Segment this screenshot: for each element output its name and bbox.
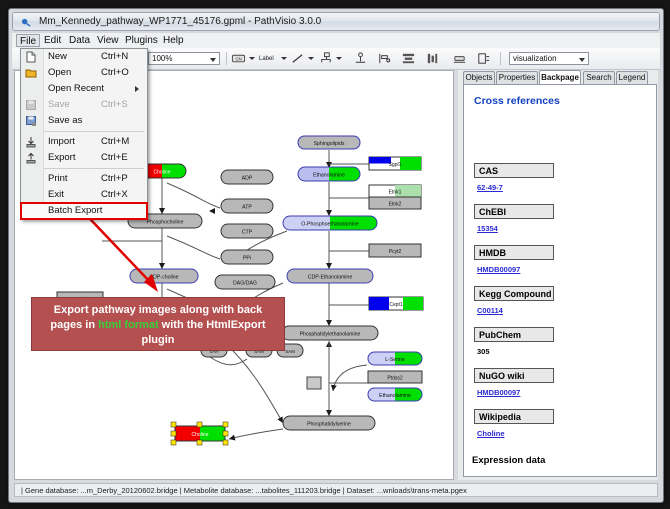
svg-text:GN: GN	[235, 56, 241, 61]
menu-item-import-accel: Ctrl+M	[101, 134, 129, 150]
node-sgpl1: Sgpl1	[369, 157, 421, 170]
side-panel-tabstrip: Objects Properties Backpage Search Legen…	[463, 70, 658, 84]
line-icon[interactable]	[290, 51, 305, 66]
screenshot-root: Mm_Kennedy_pathway_WP1771_45176.gpml - P…	[0, 0, 670, 509]
menu-item-exit[interactable]: Exit Ctrl+X	[21, 187, 147, 203]
node-ethanolamine-top: Ethanolamine	[298, 167, 360, 181]
zoom-value: 100%	[152, 54, 172, 63]
menu-help[interactable]: Help	[159, 34, 188, 47]
pathvisio-app-icon	[21, 17, 32, 28]
menu-item-new-accel: Ctrl+N	[101, 49, 128, 65]
node-adp: ADP	[221, 170, 273, 184]
svg-text:Etnk2: Etnk2	[389, 202, 402, 208]
toolbar-separator-2	[500, 52, 501, 65]
annotation-line2b: with the	[159, 319, 204, 331]
svg-text:Pcyt2: Pcyt2	[389, 249, 402, 255]
datanode-icon[interactable]: GN	[231, 51, 246, 66]
menu-data[interactable]: Data	[65, 34, 94, 47]
svg-text:Ethanolamine: Ethanolamine	[313, 173, 345, 179]
annotation-text: Export pathway images along with back pa…	[38, 303, 278, 348]
node-etnk2: Etnk2	[369, 197, 421, 209]
menu-file[interactable]: File	[16, 34, 40, 47]
svg-text:SAM: SAM	[285, 349, 295, 354]
svg-text:Ethanolamine: Ethanolamine	[379, 393, 411, 399]
window-title: Mm_Kennedy_pathway_WP1771_45176.gpml - P…	[39, 16, 321, 27]
node-pcyt2: Pcyt2	[369, 244, 421, 257]
svg-text:Sgpl1: Sgpl1	[389, 162, 402, 168]
svg-text:Cept1: Cept1	[389, 302, 403, 308]
open-folder-icon	[25, 67, 37, 79]
menu-item-export-accel: Ctrl+E	[101, 150, 128, 166]
svg-text:Ptdss2: Ptdss2	[387, 376, 403, 382]
svg-text:Phosphatidylserine: Phosphatidylserine	[307, 422, 351, 428]
menu-item-open-recent-label: Open Recent	[48, 81, 104, 97]
menu-item-open-label: Open	[48, 65, 71, 81]
group-icon[interactable]	[476, 51, 491, 66]
menu-item-open-accel: Ctrl+O	[101, 65, 129, 81]
svg-text:DAG/DAG: DAG/DAG	[233, 281, 257, 287]
xref-label-hmdb: HMDB	[474, 245, 554, 260]
visualization-value: visualization	[513, 54, 557, 63]
node-phosphatidylserine: Phosphatidylserine	[283, 416, 375, 430]
menu-item-import[interactable]: Import Ctrl+M	[21, 134, 147, 150]
save-as-icon	[25, 115, 37, 127]
xref-label-cas: CAS	[474, 163, 554, 178]
distribute-horizontal-icon[interactable]	[425, 51, 440, 66]
menu-item-exit-accel: Ctrl+X	[101, 187, 128, 203]
side-panel: Objects Properties Backpage Search Legen…	[458, 70, 658, 480]
annotation-callout: Export pathway images along with back pa…	[31, 297, 285, 351]
svg-text:L-Serine: L-Serine	[385, 357, 405, 363]
menu-item-open-recent[interactable]: Open Recent	[21, 81, 147, 97]
tab-objects[interactable]: Objects	[463, 71, 495, 84]
chevron-down-icon-2	[579, 58, 585, 62]
menu-bar: File Edit Data View Plugins Help	[12, 33, 660, 49]
svg-text:Phosphocholine: Phosphocholine	[147, 220, 184, 226]
backpage-panel[interactable]: Cross references CAS 62-49-7 ChEBI 15354…	[463, 84, 657, 477]
xref-label-kegg: Kegg Compound	[474, 286, 554, 301]
menu-item-save-as[interactable]: Save as	[21, 113, 147, 129]
annotation-line2a: pages in	[50, 319, 98, 331]
svg-text:ADP: ADP	[242, 176, 253, 182]
node-ctp: CTP	[221, 224, 273, 238]
menu-item-export[interactable]: Export Ctrl+E	[21, 150, 147, 166]
file-menu-dropdown[interactable]: New Ctrl+N Open Ctrl+O Open Recent Save …	[20, 48, 148, 220]
new-document-icon	[25, 51, 37, 63]
chevron-down-icon	[210, 58, 216, 62]
menu-item-new[interactable]: New Ctrl+N	[21, 49, 147, 65]
tab-legend[interactable]: Legend	[616, 71, 648, 84]
svg-text:O-Phosphoethanolamine: O-Phosphoethanolamine	[301, 222, 359, 228]
menu-item-batch-export-label: Batch Export	[48, 203, 102, 219]
stack-center-icon[interactable]	[452, 51, 467, 66]
menu-item-print-accel: Ctrl+P	[101, 171, 128, 187]
align-top-icon[interactable]	[353, 51, 368, 66]
application-window: Mm_Kennedy_pathway_WP1771_45176.gpml - P…	[8, 8, 664, 503]
menu-edit[interactable]: Edit	[40, 34, 65, 47]
xref-label-nugo: NuGO wiki	[474, 368, 554, 383]
annotation-highlight: html format	[98, 319, 159, 331]
submenu-arrow-icon	[135, 86, 139, 92]
status-bar: | Gene database: ...m_Derby_20120602.bri…	[14, 483, 658, 497]
menu-view[interactable]: View	[93, 34, 123, 47]
node-phosphatidylethanolamine: Phosphatidylethanolamine	[282, 326, 378, 340]
menu-item-exit-label: Exit	[48, 187, 64, 203]
node-cept1: Cept1	[369, 297, 423, 310]
node-choline-selected: Choline	[171, 422, 228, 445]
distribute-vertical-icon[interactable]	[401, 51, 416, 66]
xref-value-nugo[interactable]: HMDB00097	[477, 388, 520, 397]
xref-label-chebi: ChEBI	[474, 204, 554, 219]
tab-backpage[interactable]: Backpage	[539, 70, 581, 84]
backpage-title: Cross references	[474, 95, 560, 107]
menu-item-save-accel: Ctrl+S	[101, 97, 128, 113]
svg-text:PPi: PPi	[243, 256, 251, 262]
expression-data-heading: Expression data	[472, 455, 545, 466]
node-etnk1: Etnk1	[369, 185, 421, 197]
node-ppi: PPi	[221, 250, 273, 264]
xref-value-kegg[interactable]: C00114	[477, 306, 503, 315]
svg-text:Choline: Choline	[154, 170, 171, 176]
node-ethanolamine-bottom: Ethanolamine	[368, 388, 422, 401]
title-bar: Mm_Kennedy_pathway_WP1771_45176.gpml - P…	[12, 12, 660, 31]
node-sphingolipids: Sphingolipids	[298, 136, 360, 149]
svg-text:CDP-choline: CDP-choline	[149, 275, 178, 281]
xref-label-pubchem: PubChem	[474, 327, 554, 342]
menu-item-export-label: Export	[48, 150, 75, 166]
node-l-serine: L-Serine	[368, 352, 422, 365]
menu-item-save-as-label: Save as	[48, 113, 82, 129]
datanode-dropdown-arrow-icon[interactable]	[249, 57, 255, 60]
node-cdp-ethanolamine: CDP-Ethanolamine	[287, 269, 373, 283]
svg-text:ATP: ATP	[242, 205, 252, 211]
visualization-dropdown[interactable]: visualization	[509, 52, 589, 65]
menu-item-new-label: New	[48, 49, 67, 65]
svg-text:CDP-Ethanolamine: CDP-Ethanolamine	[308, 275, 353, 281]
status-text: | Gene database: ...m_Derby_20120602.bri…	[21, 486, 467, 495]
toolbar-separator	[226, 52, 227, 65]
menu-item-save: Save Ctrl+S	[21, 97, 147, 113]
zoom-dropdown[interactable]: 100%	[148, 52, 220, 65]
export-icon	[25, 152, 37, 164]
node-o-phosphoethanolamine: O-Phosphoethanolamine	[283, 216, 377, 230]
xref-value-wikipedia[interactable]: Choline	[477, 429, 505, 438]
svg-text:Sphingolipids: Sphingolipids	[314, 141, 345, 147]
menu-item-import-label: Import	[48, 134, 75, 150]
xref-value-chebi[interactable]: 15354	[477, 224, 498, 233]
interaction-icon[interactable]	[318, 51, 333, 66]
menu-item-print-label: Print	[48, 171, 68, 187]
menu-plugins[interactable]: Plugins	[121, 34, 162, 47]
tab-properties[interactable]: Properties	[496, 71, 538, 84]
node-atp: ATP	[221, 199, 273, 213]
node-cdp-choline: CDP-choline	[130, 269, 198, 283]
tab-search[interactable]: Search	[583, 71, 615, 84]
line-dropdown-arrow-icon[interactable]	[308, 57, 314, 60]
save-disk-icon	[25, 99, 37, 111]
menu-item-open[interactable]: Open Ctrl+O	[21, 65, 147, 81]
svg-text:Etnk1: Etnk1	[389, 190, 402, 196]
node-dagdag: DAG/DAG	[215, 275, 275, 289]
xref-value-cas[interactable]: 62-49-7	[477, 183, 503, 192]
label-dropdown-caption: Label	[259, 56, 274, 62]
xref-value-pubchem: 305	[477, 347, 490, 356]
svg-text:Choline: Choline	[192, 432, 209, 438]
menu-item-print[interactable]: Print Ctrl+P	[21, 171, 147, 187]
import-icon	[25, 136, 37, 148]
svg-text:Phosphatidylethanolamine: Phosphatidylethanolamine	[300, 332, 361, 338]
xref-label-wikipedia: Wikipedia	[474, 409, 554, 424]
annotation-line1: Export pathway images along with back	[54, 304, 262, 316]
svg-text:CTP: CTP	[242, 230, 253, 236]
menu-item-batch-export[interactable]: Batch Export	[21, 203, 147, 219]
xref-value-hmdb[interactable]: HMDB00097	[477, 265, 520, 274]
node-ptdss2: Ptdss2	[368, 371, 422, 383]
interaction-dropdown-arrow-icon[interactable]	[336, 57, 342, 60]
align-left-icon[interactable]	[377, 51, 392, 66]
label-dropdown-arrow-icon[interactable]	[281, 57, 287, 60]
menu-item-save-label: Save	[48, 97, 70, 113]
